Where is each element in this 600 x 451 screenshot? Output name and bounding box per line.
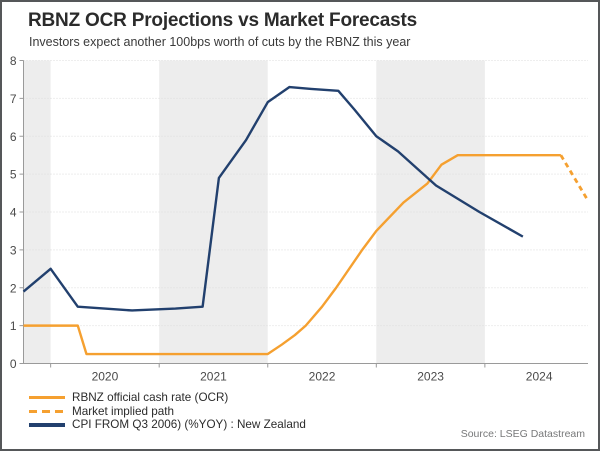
legend-label-market-implied: Market implied path [72, 405, 174, 419]
y-tick-label: 0 [10, 357, 17, 371]
chart-card: RBNZ OCR Projections vs Market Forecasts… [0, 0, 600, 451]
legend-label-cpi: CPI FROM Q3 2006) (%YOY) : New Zealand [72, 418, 306, 432]
y-axis-ticks [20, 61, 24, 364]
y-tick-label: 8 [10, 54, 17, 68]
legend-swatch-solid-orange-icon [29, 391, 65, 404]
x-axis-ticks [51, 364, 485, 368]
y-tick-label: 5 [10, 168, 17, 182]
chart-plot-area: 012345678 20202021202220232024 [2, 2, 600, 451]
y-tick-label: 7 [10, 92, 17, 106]
y-tick-label: 3 [10, 243, 17, 257]
line-chart-svg: 012345678 20202021202220232024 [2, 2, 600, 451]
x-axis-labels: 20202021202220232024 [92, 370, 553, 384]
series-line [561, 155, 588, 200]
legend-item-market-implied: Market implied path [29, 405, 306, 419]
x-tick-label: 2024 [526, 370, 553, 384]
x-tick-label: 2020 [92, 370, 119, 384]
y-tick-label: 4 [10, 206, 17, 220]
x-tick-label: 2022 [309, 370, 336, 384]
legend-swatch-dashed-orange-icon [29, 405, 65, 418]
year-band [24, 61, 51, 364]
y-tick-label: 1 [10, 319, 17, 333]
x-tick-label: 2023 [417, 370, 444, 384]
legend-swatch-solid-navy-icon [29, 418, 65, 431]
source-attribution: Source: LSEG Datastream [461, 428, 585, 440]
x-tick-label: 2021 [200, 370, 227, 384]
data-series-group [24, 87, 589, 354]
chart-legend: RBNZ official cash rate (OCR) Market imp… [29, 391, 306, 432]
y-tick-label: 6 [10, 130, 17, 144]
y-axis-labels: 012345678 [10, 54, 17, 371]
gridlines [24, 61, 589, 326]
legend-item-cpi: CPI FROM Q3 2006) (%YOY) : New Zealand [29, 418, 306, 432]
y-tick-label: 2 [10, 281, 17, 295]
legend-item-ocr: RBNZ official cash rate (OCR) [29, 391, 306, 405]
legend-label-ocr: RBNZ official cash rate (OCR) [72, 391, 228, 405]
